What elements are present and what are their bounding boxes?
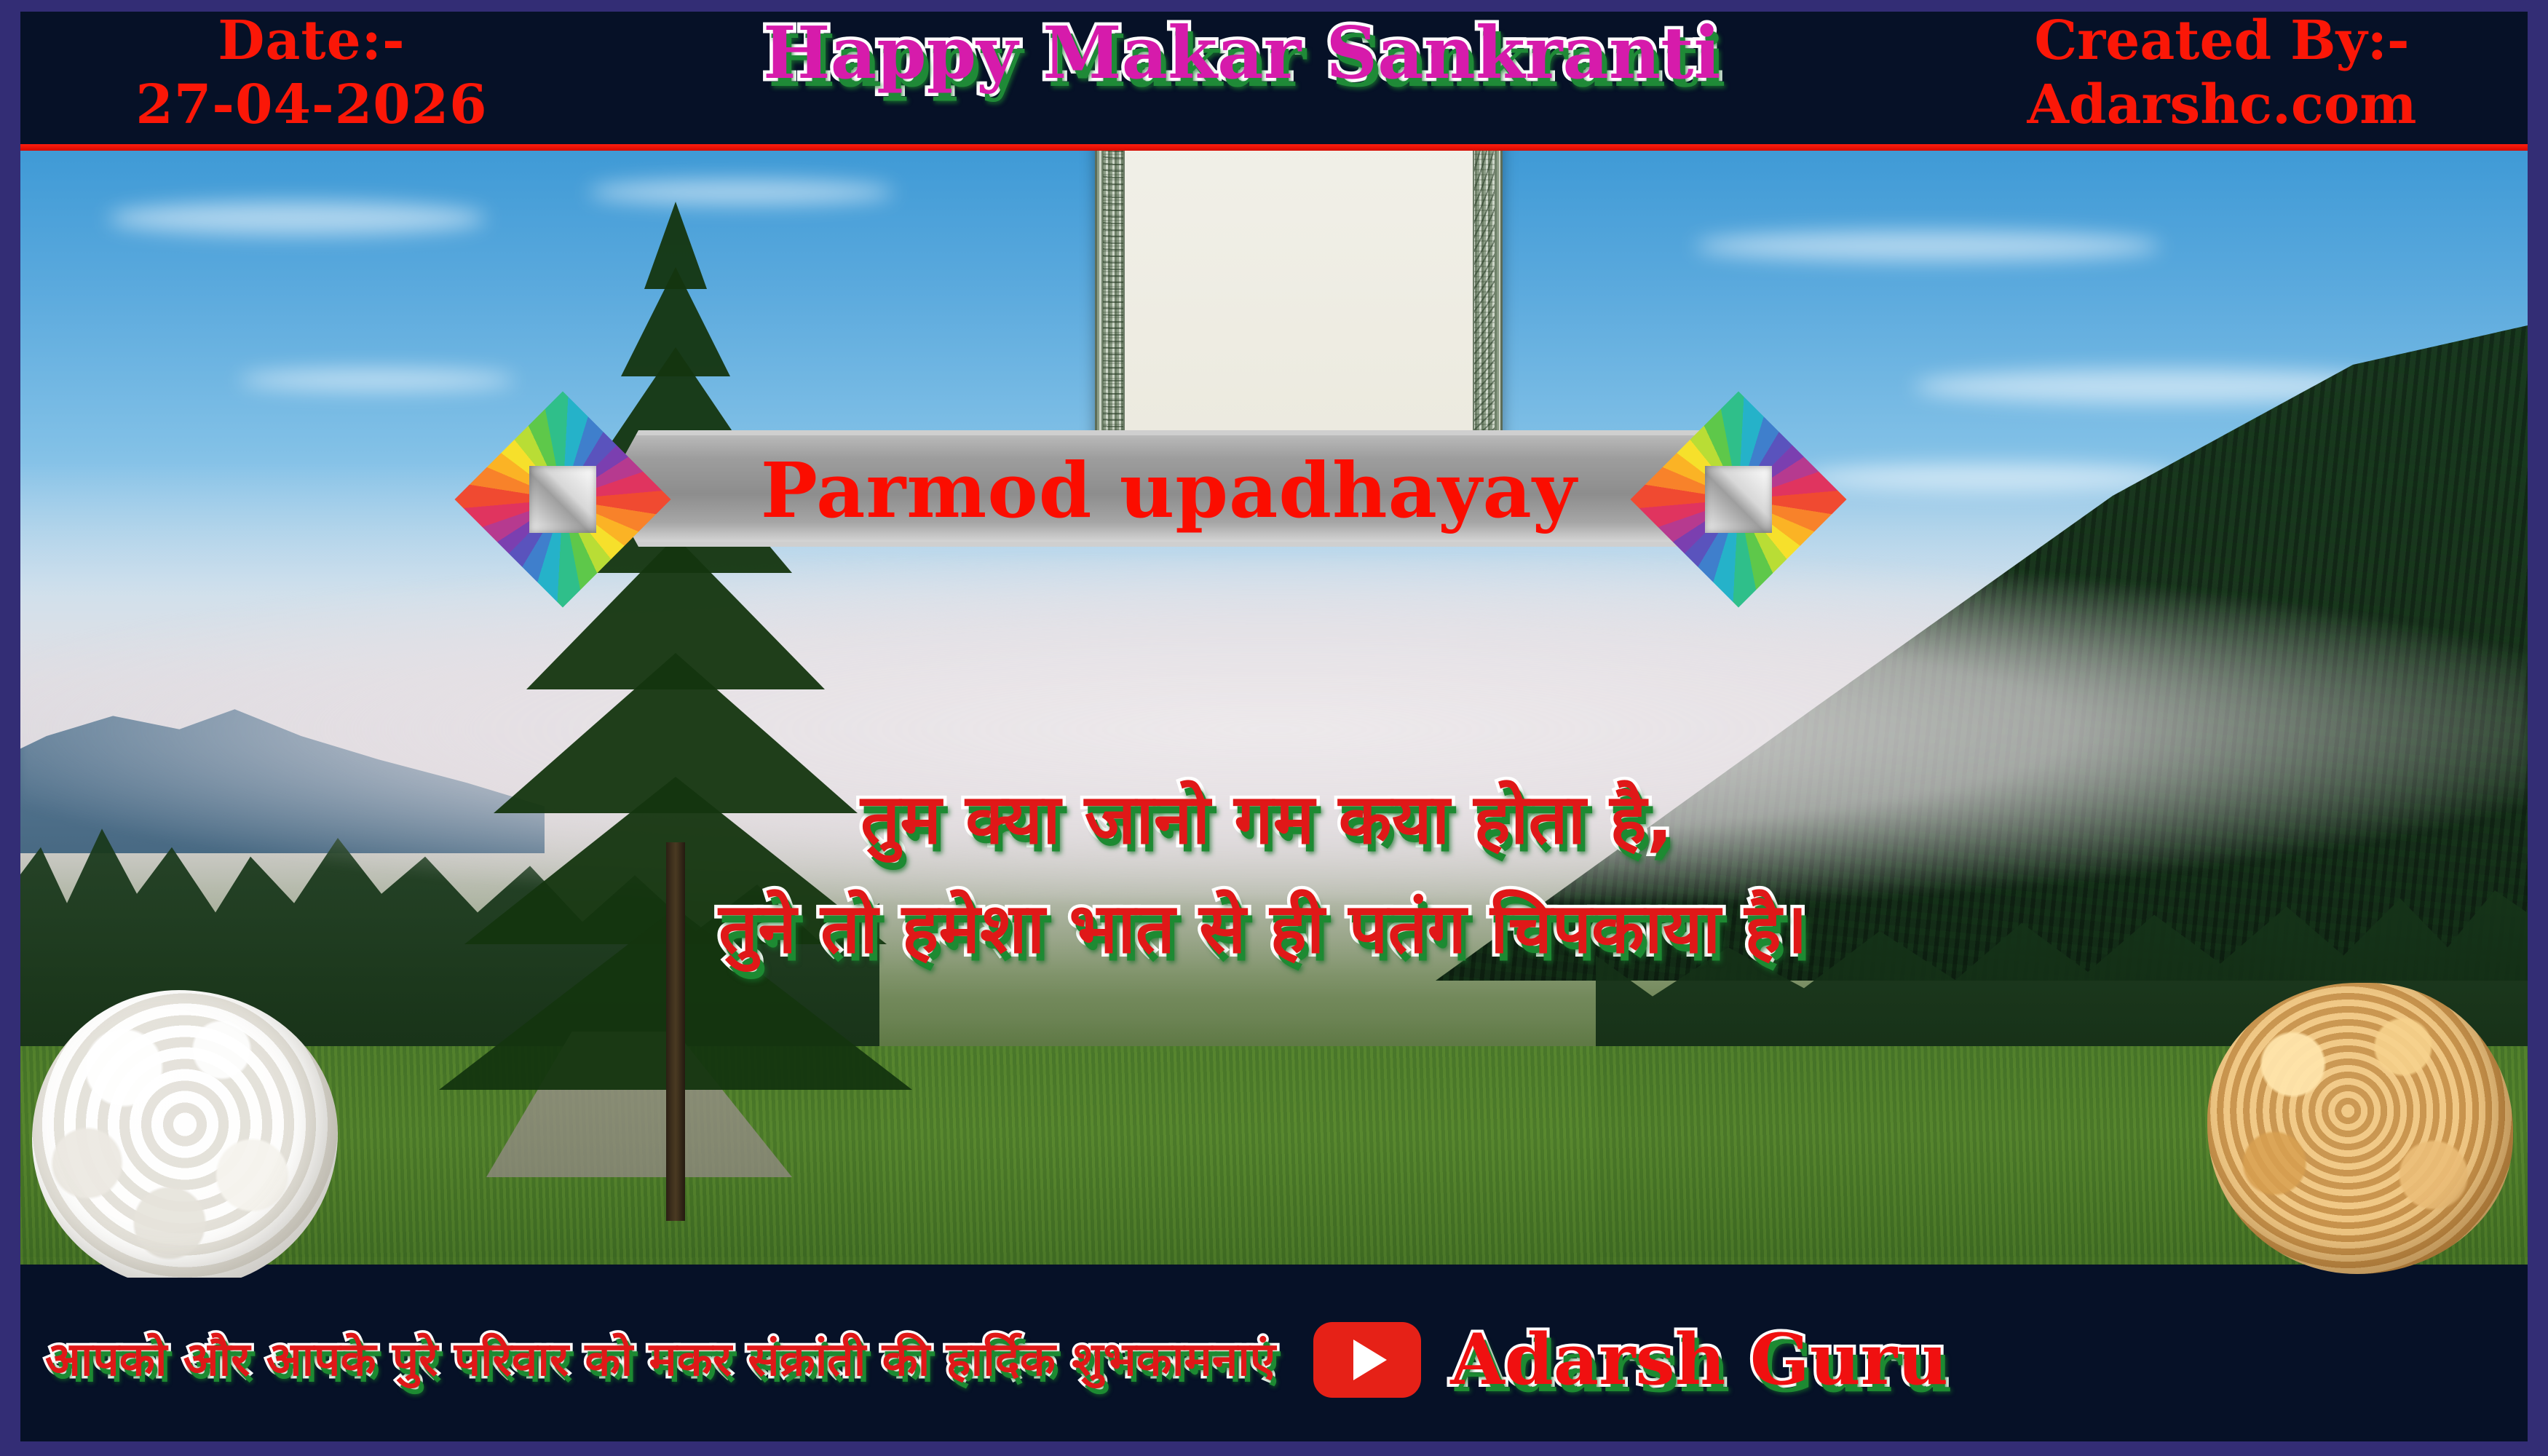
name-banner: Parmod upadhayay bbox=[20, 416, 2528, 576]
credit-label: Created By:- bbox=[1945, 12, 2498, 73]
youtube-play-icon[interactable] bbox=[1313, 1322, 1421, 1398]
page-title: Happy Makar Sankranti bbox=[763, 13, 1695, 95]
card-inner-frame: Parmod upadhayay तुम क्या जानो गम कया हो… bbox=[20, 12, 2528, 1441]
golden-ladoo-sweet bbox=[2207, 983, 2513, 1274]
footer-brand-name[interactable]: Adarsh Guru bbox=[1450, 1320, 1948, 1400]
recipient-name[interactable]: Parmod upadhayay bbox=[606, 436, 1731, 544]
date-value: 27-04-2026 bbox=[79, 73, 545, 137]
white-ladoo-sweet bbox=[32, 990, 338, 1289]
poem-text: तुम क्या जानो गम कया होता है, तुने तो हम… bbox=[20, 765, 2528, 984]
date-label: Date:- bbox=[79, 12, 545, 73]
credit-value[interactable]: Adarshc.com bbox=[1945, 73, 2498, 137]
play-triangle-icon bbox=[1353, 1340, 1387, 1380]
date-block: Date:- 27-04-2026 bbox=[79, 12, 545, 137]
poem-line-2: तुने तो हमेशा भात से ही पतंग चिपकाया है। bbox=[20, 874, 2528, 984]
credit-block: Created By:- Adarshc.com bbox=[1945, 12, 2498, 137]
footer-bar: आपको और आपके पुरे परिवार को मकर संक्रांत… bbox=[20, 1278, 2528, 1441]
header-divider bbox=[20, 144, 2528, 151]
cloud-shape bbox=[1695, 231, 2161, 261]
header-bar: Date:- 27-04-2026 Happy Makar Sankranti … bbox=[20, 12, 2528, 144]
footer-wish-text: आपको और आपके पुरे परिवार को मकर संक्रांत… bbox=[45, 1329, 1275, 1391]
meadow-ground bbox=[20, 1046, 2528, 1265]
greeting-card-poster: Parmod upadhayay तुम क्या जानो गम कया हो… bbox=[0, 0, 2548, 1456]
spruce-tree bbox=[428, 180, 923, 1221]
poem-line-1: तुम क्या जानो गम कया होता है, bbox=[20, 765, 2528, 874]
